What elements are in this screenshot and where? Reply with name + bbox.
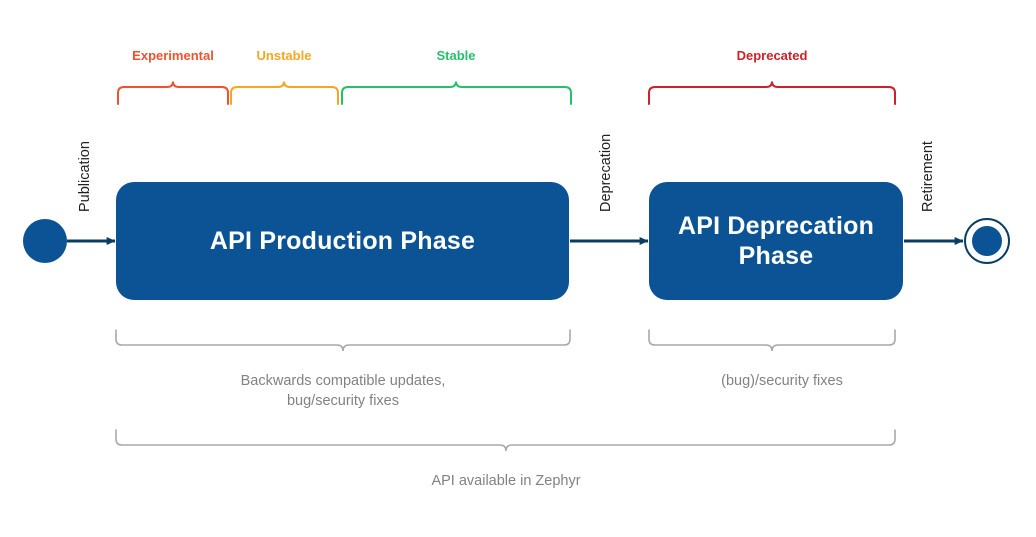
label-experimental: Experimental [132,48,214,63]
label-stable: Stable [436,48,475,63]
api-production-phase-box: API Production Phase [116,182,569,300]
brace-path-availability [116,430,895,451]
api-production-phase-label: API Production Phase [210,226,475,257]
brace-path-deprecation-support [649,330,895,351]
label-availability: API available in Zephyr [431,472,580,492]
api-deprecation-phase-label: API Deprecation Phase [663,211,889,272]
end-node [964,218,1010,264]
label-deprecation: Deprecation [598,134,614,212]
brace-path-stable [342,82,571,105]
label-production-support: Backwards compatible updates, bug/securi… [241,372,446,411]
brace-path-production-support [116,330,570,351]
label-publication: Publication [77,141,93,212]
brace-path-unstable [231,82,338,105]
label-unstable: Unstable [257,48,312,63]
api-deprecation-phase-box: API Deprecation Phase [649,182,903,300]
label-deprecated: Deprecated [737,48,808,63]
start-node [23,219,67,263]
api-lifecycle-diagram: Experimental Unstable Stable Deprecated … [0,0,1036,537]
end-node-inner-disc [970,224,1004,258]
label-deprecation-support: (bug)/security fixes [721,372,843,392]
brace-path-experimental [118,82,228,105]
label-retirement: Retirement [920,141,936,212]
brace-path-deprecated [649,82,895,105]
